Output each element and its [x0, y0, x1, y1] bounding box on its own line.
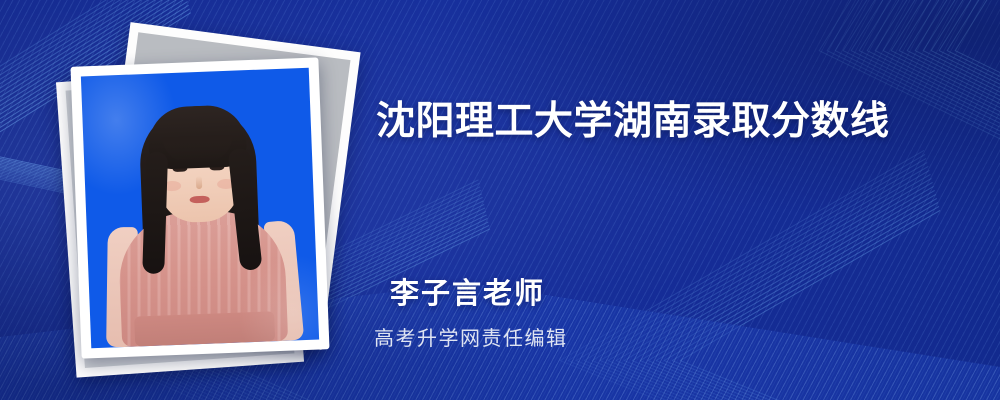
author-role: 高考升学网责任编辑: [374, 322, 568, 351]
portrait-dress-waist: [134, 311, 275, 346]
portrait-illustration: [81, 68, 319, 349]
portrait-hair-strand-left: [142, 151, 168, 274]
portrait-nose: [196, 176, 202, 189]
article-header-banner: 沈阳理工大学湖南录取分数线 李子言老师 高考升学网责任编辑: [0, 0, 1000, 400]
banner-title: 沈阳理工大学湖南录取分数线: [376, 100, 890, 145]
author-name: 李子言老师: [390, 270, 545, 312]
author-id-photo: [81, 68, 319, 349]
photo-card-front: [70, 57, 329, 358]
photo-card-stack: [58, 34, 358, 364]
